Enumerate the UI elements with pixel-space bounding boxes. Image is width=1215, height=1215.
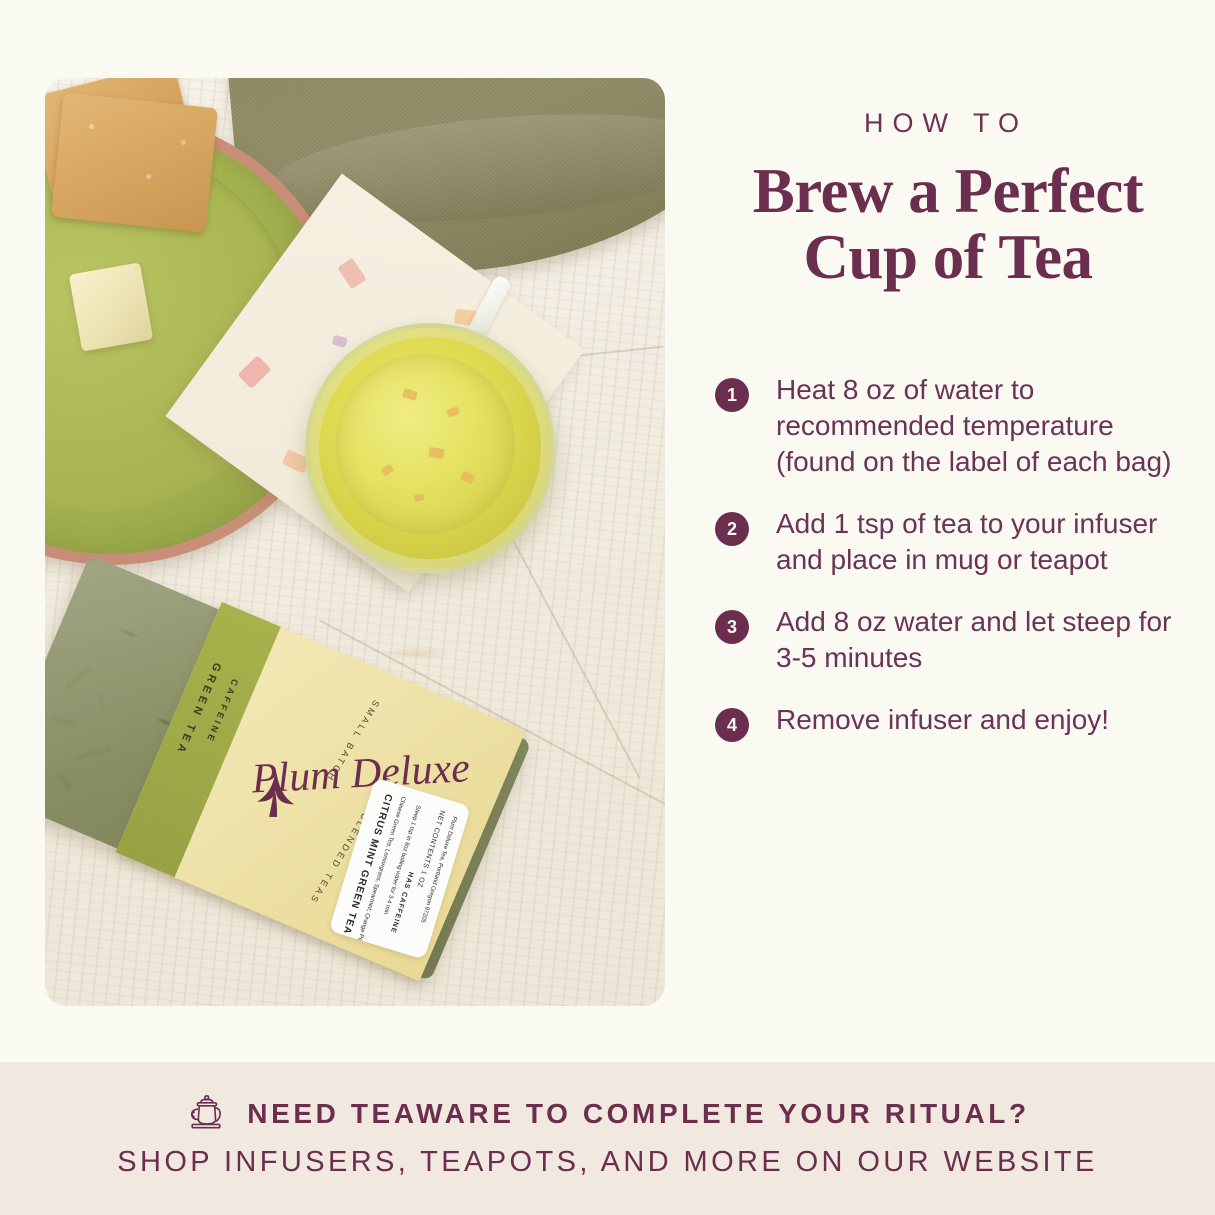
tea-fleck bbox=[402, 388, 418, 401]
step-number-badge: 2 bbox=[715, 512, 749, 546]
poster-root: GREEN TEA CAFFEINE SMALL BATCH HAND BLEN… bbox=[0, 0, 1215, 1215]
tea-fleck bbox=[428, 447, 444, 459]
tea-fleck bbox=[446, 406, 460, 418]
brewed-tea-surface bbox=[335, 354, 515, 534]
step-text: Heat 8 oz of water to recommended temper… bbox=[776, 372, 1185, 480]
terrazzo-chip bbox=[332, 335, 348, 348]
step-number-badge: 1 bbox=[715, 378, 749, 412]
footer-headline: NEED TEAWARE TO COMPLETE YOUR RITUAL? bbox=[247, 1098, 1029, 1130]
step-text: Add 8 oz water and let steep for 3-5 min… bbox=[776, 604, 1185, 676]
list-item: 1 Heat 8 oz of water to recommended temp… bbox=[715, 372, 1185, 480]
hero-photo: GREEN TEA CAFFEINE SMALL BATCH HAND BLEN… bbox=[45, 78, 665, 1006]
footer-line1-row: NEED TEAWARE TO COMPLETE YOUR RITUAL? bbox=[0, 1094, 1215, 1134]
step-number-badge: 4 bbox=[715, 708, 749, 742]
terrazzo-chip bbox=[337, 258, 366, 290]
step-number-badge: 3 bbox=[715, 610, 749, 644]
teapot-icon bbox=[185, 1094, 227, 1134]
list-item: 2 Add 1 tsp of tea to your infuser and p… bbox=[715, 506, 1185, 578]
eyebrow-how-to: HOW TO bbox=[712, 108, 1180, 139]
tea-fleck bbox=[414, 494, 425, 503]
cracker bbox=[51, 92, 218, 233]
page-title: Brew a Perfect Cup of Tea bbox=[700, 158, 1196, 290]
step-text: Add 1 tsp of tea to your infuser and pla… bbox=[776, 506, 1185, 578]
cheese-cube bbox=[69, 262, 153, 351]
page-title-line1: Brew a Perfect bbox=[700, 158, 1196, 224]
footer-banner: NEED TEAWARE TO COMPLETE YOUR RITUAL? SH… bbox=[0, 1062, 1215, 1215]
page-title-line2: Cup of Tea bbox=[700, 224, 1196, 290]
tea-fleck bbox=[460, 470, 476, 484]
steps-list: 1 Heat 8 oz of water to recommended temp… bbox=[715, 372, 1185, 768]
step-text: Remove infuser and enjoy! bbox=[776, 702, 1109, 738]
footer-subline: SHOP INFUSERS, TEAPOTS, AND MORE ON OUR … bbox=[0, 1146, 1215, 1179]
list-item: 3 Add 8 oz water and let steep for 3-5 m… bbox=[715, 604, 1185, 676]
list-item: 4 Remove infuser and enjoy! bbox=[715, 702, 1185, 742]
package-brand-name: Plum Deluxe bbox=[251, 744, 471, 803]
terrazzo-chip bbox=[237, 355, 271, 389]
tea-fleck bbox=[380, 463, 394, 476]
